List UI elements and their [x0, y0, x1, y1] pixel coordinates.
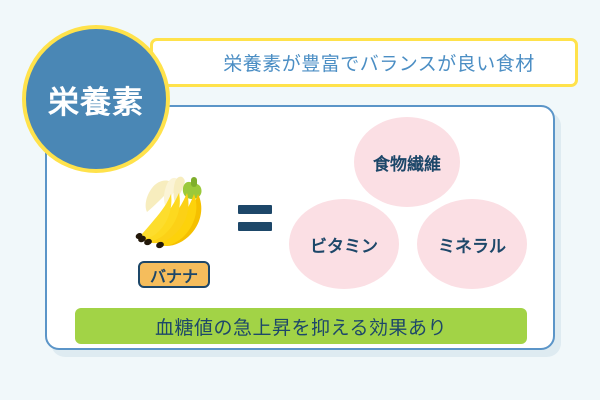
equals-bar-bottom	[238, 222, 272, 231]
banana-label-text: バナナ	[150, 263, 198, 287]
headline-text: 栄養素が豊富でバランスが良い食材	[193, 49, 535, 76]
infographic-stage: 栄養素が豊富でバランスが良い食材 栄養素	[0, 0, 600, 400]
nutrient-circle-vitamin: ビタミン	[289, 199, 399, 289]
nutrient-label-fiber: 食物繊維	[373, 150, 441, 175]
nutrient-label-mineral: ミネラル	[438, 232, 506, 257]
nutrient-circle-fiber: 食物繊維	[354, 117, 460, 207]
equals-sign-icon	[238, 205, 272, 231]
headline-banner: 栄養素が豊富でバランスが良い食材	[150, 38, 578, 87]
equals-bar-top	[238, 205, 272, 214]
category-badge-label: 栄養素	[48, 77, 144, 122]
banana-label-badge: バナナ	[138, 261, 210, 288]
effect-banner: 血糖値の急上昇を抑える効果あり	[75, 308, 527, 344]
effect-banner-text: 血糖値の急上昇を抑える効果あり	[155, 313, 447, 340]
nutrient-label-vitamin: ビタミン	[310, 232, 378, 257]
nutrient-circle-mineral: ミネラル	[417, 199, 527, 289]
banana-bunch-icon	[128, 166, 220, 254]
category-badge: 栄養素	[22, 25, 170, 173]
